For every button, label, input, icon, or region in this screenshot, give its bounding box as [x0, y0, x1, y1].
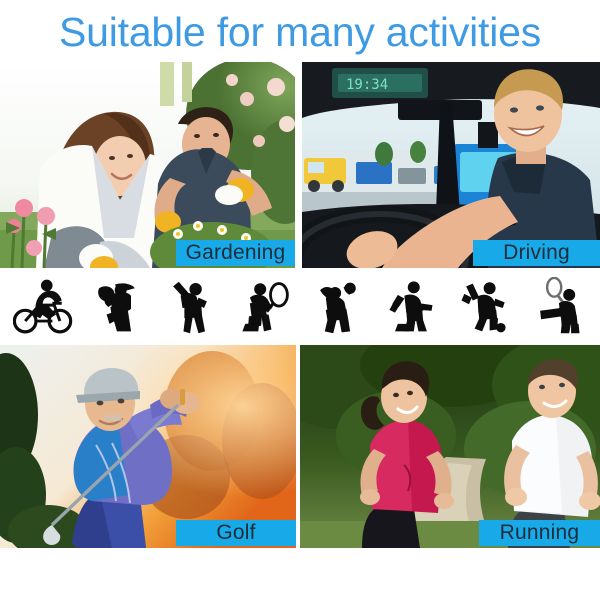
photo-card-golf[interactable]: Golf: [0, 345, 296, 548]
photo-card-driving[interactable]: 19:34: [302, 62, 600, 268]
badminton-icon: [527, 277, 587, 337]
photo-label-golf: Golf: [176, 520, 296, 546]
tennis-icon: [233, 277, 293, 337]
photo-row-bottom: Golf: [0, 345, 600, 548]
photo-row-top: Gardening 19:34: [0, 62, 600, 268]
running-scene-art: [300, 345, 600, 548]
svg-text:19:34: 19:34: [346, 77, 388, 93]
photography-icon: [86, 277, 146, 337]
photo-label-running: Running: [479, 520, 600, 546]
golf-scene-art: [0, 345, 296, 548]
cycling-icon: [13, 277, 73, 337]
sport-icon-strip: [0, 272, 600, 342]
running-icon: [380, 277, 440, 337]
photo-label-gardening: Gardening: [176, 240, 295, 266]
photo-card-running[interactable]: Running: [300, 345, 600, 548]
driving-scene-art: 19:34: [302, 62, 600, 268]
photo-card-gardening[interactable]: Gardening: [0, 62, 295, 268]
volleyball-icon: [307, 277, 367, 337]
gardening-scene-art: [0, 62, 295, 268]
page-title: Suitable for many activities: [0, 6, 600, 58]
soccer-icon: [454, 277, 514, 337]
photo-label-driving: Driving: [473, 240, 600, 266]
baseball-icon: [160, 277, 220, 337]
